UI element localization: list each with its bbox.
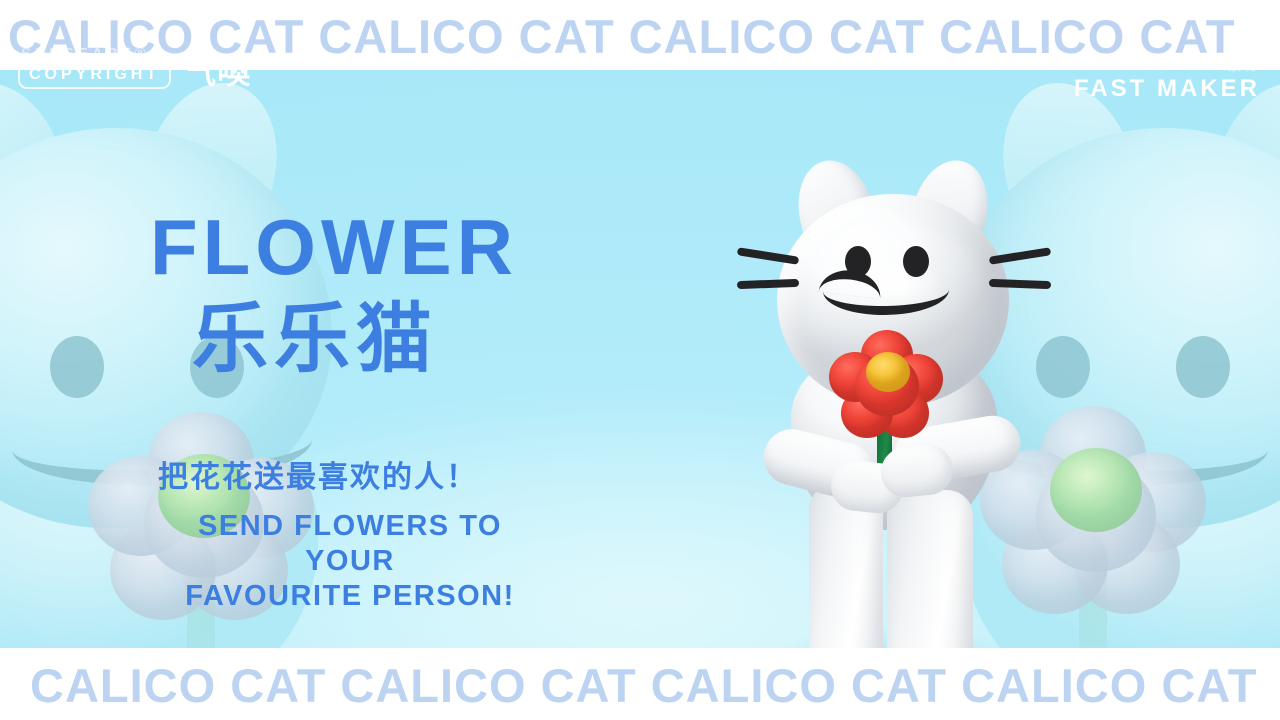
title-chinese: 乐乐猫: [192, 300, 550, 381]
cat-leg-right: [887, 490, 973, 658]
watermark-right-subtitle: 素材: [1074, 58, 1260, 74]
flower-center: [1050, 448, 1142, 532]
watermark-brand: SENSEART®: [21, 46, 171, 62]
watermark-logo-icon: 气喚: [183, 55, 251, 89]
calico-cat-character: [735, 154, 1055, 658]
subtitle-english: SEND FLOWERS TO YOUR FAVOURITE PERSON!: [150, 509, 550, 615]
cat-whisker-right-upper: [989, 247, 1051, 265]
watermark-right: 素材 FAST MAKER: [1074, 58, 1260, 101]
title-english: FLOWER: [150, 208, 550, 286]
banner-canvas: FLOWER 乐乐猫 把花花送最喜欢的人！ SEND FLOWERS TO YO…: [0, 0, 1280, 720]
subtitle-english-line-1: SEND FLOWERS TO YOUR: [150, 509, 550, 580]
marquee-text-bottom: CALICO CAT CALICO CAT CALICO CAT CALICO …: [30, 662, 1257, 709]
watermark-left: SENSEART® COPYRIGHT 气喚: [18, 46, 251, 89]
subtitle-english-line-2: FAVOURITE PERSON!: [150, 579, 550, 614]
marquee-band-bottom: CALICO CAT CALICO CAT CALICO CAT CALICO …: [0, 648, 1280, 720]
flower-center: [866, 352, 910, 392]
watermark-copyright-badge: COPYRIGHT: [18, 62, 171, 89]
artwork-background: FLOWER 乐乐猫 把花花送最喜欢的人！ SEND FLOWERS TO YO…: [0, 58, 1280, 658]
headline-block: FLOWER 乐乐猫 把花花送最喜欢的人！ SEND FLOWERS TO YO…: [150, 208, 550, 615]
watermark-copyright-stack: SENSEART® COPYRIGHT: [18, 46, 171, 89]
ghost-cat-eye-left: [50, 336, 104, 398]
watermark-right-title: FAST MAKER: [1074, 77, 1260, 101]
subtitle-chinese: 把花花送最喜欢的人！: [158, 463, 550, 493]
ghost-cat-eye-left: [1176, 336, 1230, 398]
